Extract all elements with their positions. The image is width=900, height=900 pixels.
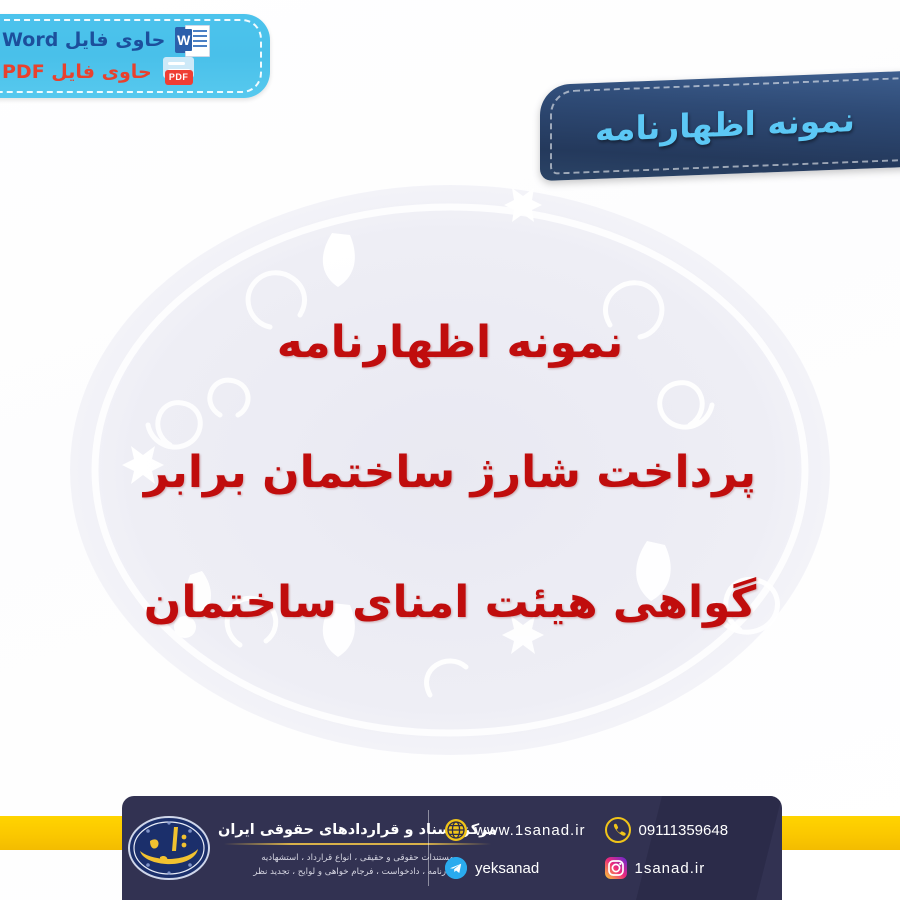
file-format-badge: حاوی فایل Word W حاوی فایل PDF PDF bbox=[0, 14, 270, 98]
badge-pdf-label: حاوی فایل PDF bbox=[2, 61, 152, 83]
footer-bar: مرکز اسناد و قراردادهای حقوقی ایران مستن… bbox=[122, 796, 782, 900]
phone-icon bbox=[605, 817, 631, 843]
headline-line-2: پرداخت شارژ ساختمان برابر bbox=[70, 408, 830, 538]
instagram-text: 1sanad.ir bbox=[635, 860, 706, 877]
phone-text: 09111359648 bbox=[639, 822, 729, 839]
word-file-icon: W bbox=[175, 25, 208, 55]
brand-block: مرکز اسناد و قراردادهای حقوقی ایران مستن… bbox=[122, 796, 422, 900]
instagram-icon bbox=[605, 857, 627, 879]
badge-row-word: حاوی فایل Word W bbox=[2, 25, 258, 55]
globe-icon bbox=[445, 819, 467, 841]
contact-instagram[interactable]: 1sanad.ir bbox=[605, 857, 765, 879]
headline-line-3: گواهی هیئت امنای ساختمان bbox=[70, 538, 830, 668]
banner-title: نمونه اظهارنامه bbox=[540, 71, 900, 181]
pdf-file-icon: PDF bbox=[162, 57, 195, 87]
company-seal-logo bbox=[126, 811, 212, 885]
document-type-banner: نمونه اظهارنامه bbox=[540, 71, 900, 181]
contact-phone[interactable]: 09111359648 bbox=[605, 817, 765, 843]
telegram-text: yeksanad bbox=[475, 860, 539, 877]
telegram-icon bbox=[445, 857, 467, 879]
poster-canvas: حاوی فایل Word W حاوی فایل PDF PDF نمونه… bbox=[0, 0, 900, 900]
badge-row-pdf: حاوی فایل PDF PDF bbox=[2, 57, 258, 87]
contact-telegram[interactable]: yeksanad bbox=[445, 857, 605, 879]
website-text: www.1sanad.ir bbox=[475, 822, 586, 839]
contact-block: www.1sanad.ir 09111359648 yeksanad bbox=[435, 796, 782, 900]
contact-website[interactable]: www.1sanad.ir bbox=[445, 817, 605, 843]
page-title: نمونه اظهارنامه پرداخت شارژ ساختمان براب… bbox=[70, 278, 830, 668]
footer-divider bbox=[428, 810, 429, 886]
badge-word-label: حاوی فایل Word bbox=[2, 29, 165, 51]
headline-line-1: نمونه اظهارنامه bbox=[70, 278, 830, 408]
